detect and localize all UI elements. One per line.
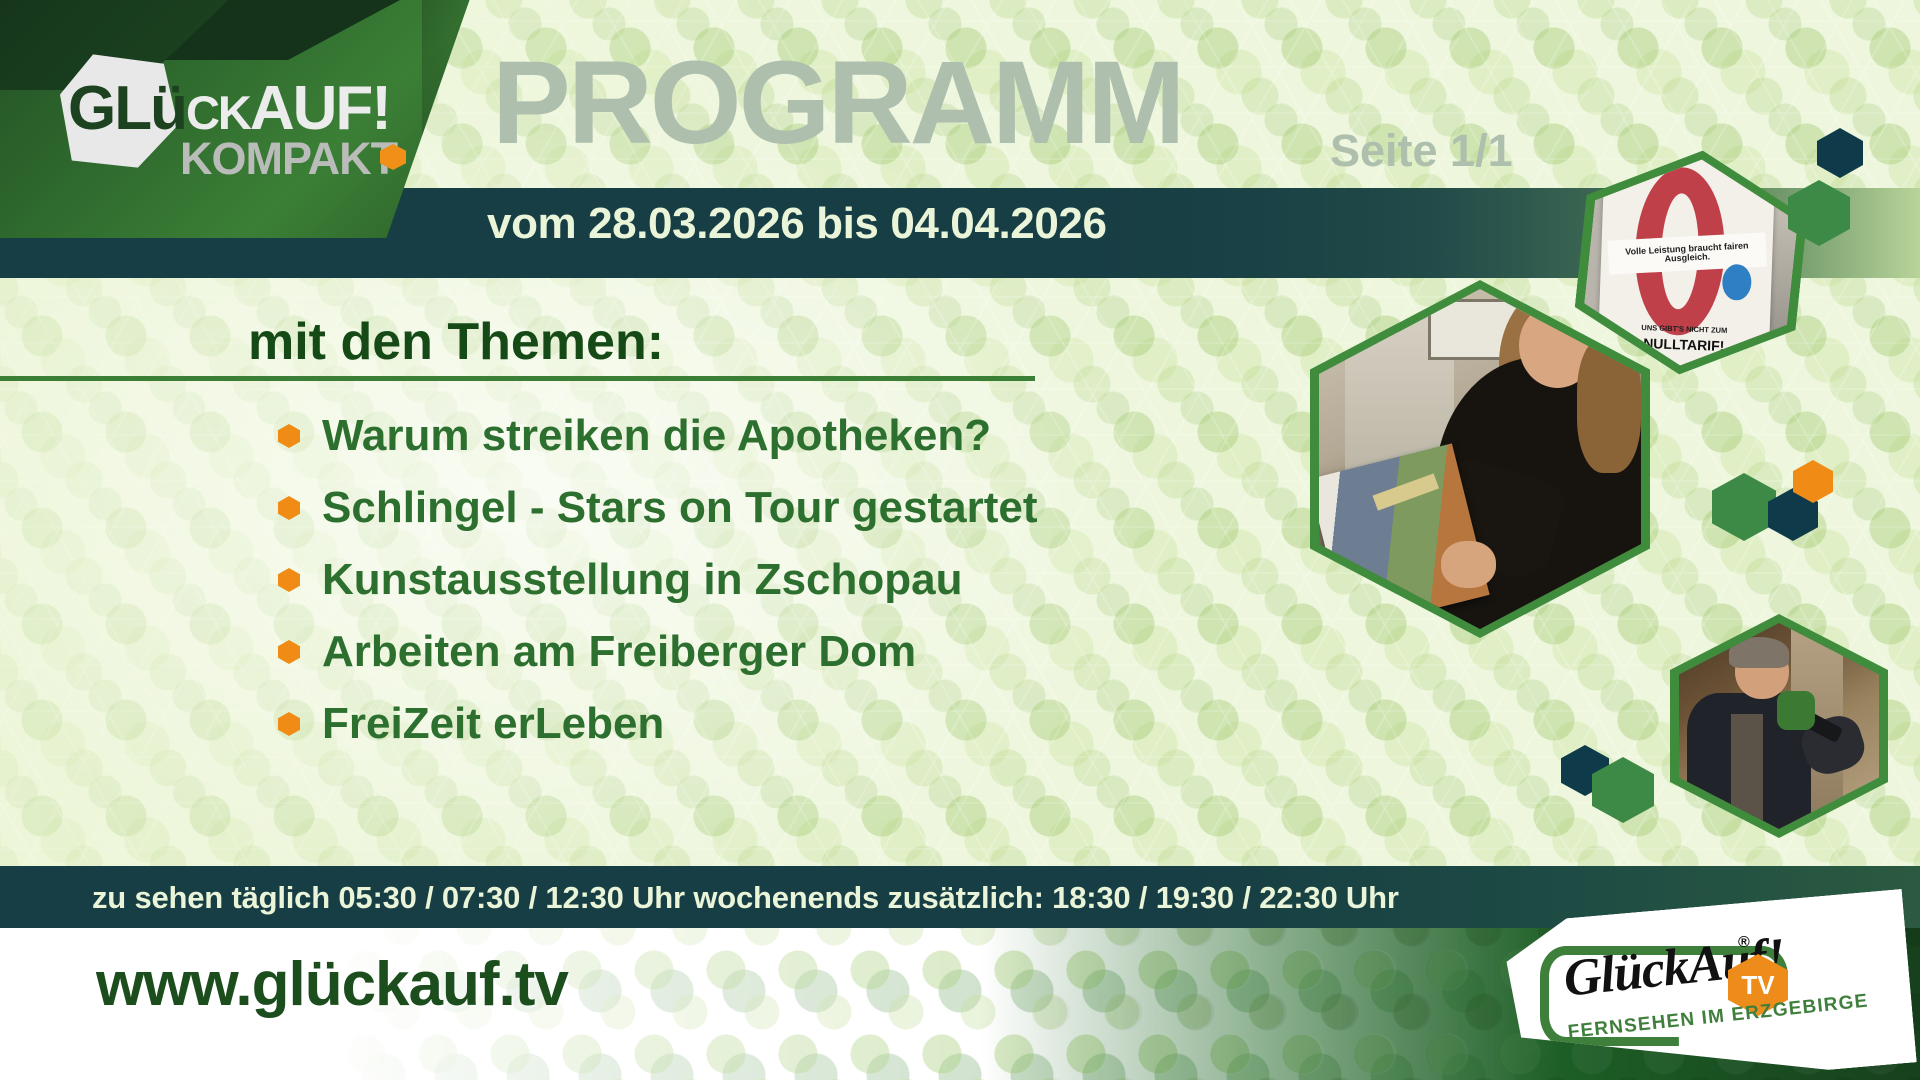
hexagon-bullet-icon (278, 568, 300, 592)
hand (1441, 541, 1496, 589)
list-item: Arbeiten am Freiberger Dom (278, 616, 1338, 688)
brand-logo-part1: GLü (68, 74, 186, 143)
brand-logo-part2: CK (186, 86, 250, 139)
hexagon-bullet-icon (278, 424, 300, 448)
microphone-icon (1777, 691, 1815, 730)
photo-woman-with-art-book (1310, 280, 1650, 638)
hexagon-bullet-icon (278, 712, 300, 736)
programm-slide: GLüCKAUF! KOMPAKT PROGRAMM Seite 1/1 vom… (0, 0, 1920, 1080)
topics-heading: mit den Themen: (248, 316, 664, 368)
brand-logo: GLüCKAUF! KOMPAKT (60, 48, 420, 168)
topics-heading-rule (0, 376, 1035, 381)
list-item: Kunstausstellung in Zschopau (278, 544, 1338, 616)
hexagon-bullet-icon (278, 496, 300, 520)
poster-headline: Volle Leistung braucht fairen Ausgleich. (1608, 240, 1766, 267)
poster-blue-badge (1722, 263, 1752, 301)
broadcast-times: zu sehen täglich 05:30 / 07:30 / 12:30 U… (92, 882, 1399, 913)
date-range: vom 28.03.2026 bis 04.04.2026 (487, 202, 1107, 246)
topic-label: Schlingel - Stars on Tour gestartet (322, 486, 1038, 530)
list-item: Schlingel - Stars on Tour gestartet (278, 472, 1338, 544)
topic-label: Arbeiten am Freiberger Dom (322, 630, 916, 674)
brand-logo-line1: GLüCKAUF! (68, 78, 390, 140)
topic-label: Kunstausstellung in Zschopau (322, 558, 963, 602)
brand-logo-line2: KOMPAKT (180, 136, 397, 181)
topic-label: Warum streiken die Apotheken? (322, 414, 991, 458)
website-url[interactable]: www.glückauf.tv (96, 954, 568, 1016)
registered-trademark-icon: ® (1738, 934, 1750, 952)
page-indicator: Seite 1/1 (1330, 128, 1513, 173)
list-item: Warum streiken die Apotheken? (278, 400, 1338, 472)
topics-list: Warum streiken die Apotheken? Schlingel … (278, 400, 1338, 760)
photo-man-interview-with-microphone (1670, 614, 1888, 838)
list-item: FreiZeit erLeben (278, 688, 1338, 760)
book-detail (1373, 473, 1440, 510)
page-title: PROGRAMM (492, 44, 1183, 162)
topic-label: FreiZeit erLeben (322, 702, 664, 746)
hexagon-bullet-icon (278, 640, 300, 664)
